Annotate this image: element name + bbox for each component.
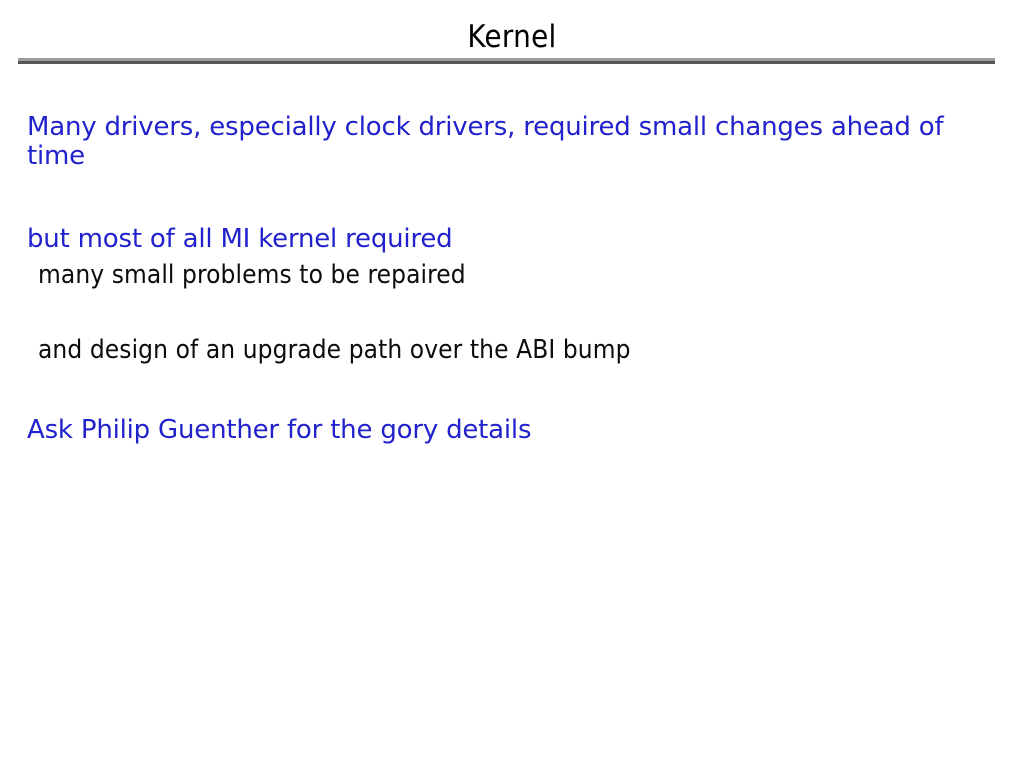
bullet-drivers: Many drivers, especially clock drivers, … [27, 113, 992, 171]
bullet-small-problems: many small problems to be repaired [38, 261, 466, 290]
bullet-ask-philip: Ask Philip Guenther for the gory details [27, 416, 531, 445]
bullet-upgrade-path: and design of an upgrade path over the A… [38, 336, 631, 365]
bullet-mi-kernel: but most of all MI kernel required [27, 225, 452, 254]
slide-body: Many drivers, especially clock drivers, … [0, 0, 1024, 768]
